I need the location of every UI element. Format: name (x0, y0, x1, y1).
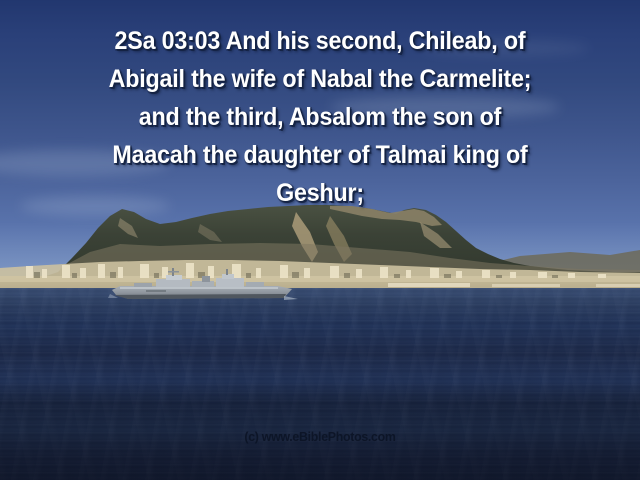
sea (0, 288, 640, 480)
verse-line-3: and the third, Absalom the son of (22, 98, 617, 136)
verse-line-1: 2Sa 03:03 And his second, Chileab, of (22, 22, 617, 60)
verse-line-5: Geshur; (22, 174, 617, 212)
verse-line-4: Maacah the daughter of Talmai king of (22, 136, 617, 174)
verse-line-2: Abigail the wife of Nabal the Carmelite; (22, 60, 617, 98)
sea-foreground-shadow (0, 360, 640, 480)
naval-frigate (108, 268, 298, 306)
bible-verse-photo: 2Sa 03:03 And his second, Chileab, of Ab… (0, 0, 640, 480)
watermark-credit: (c) www.eBiblePhotos.com (16, 429, 624, 444)
verse-overlay: 2Sa 03:03 And his second, Chileab, of Ab… (0, 22, 640, 212)
